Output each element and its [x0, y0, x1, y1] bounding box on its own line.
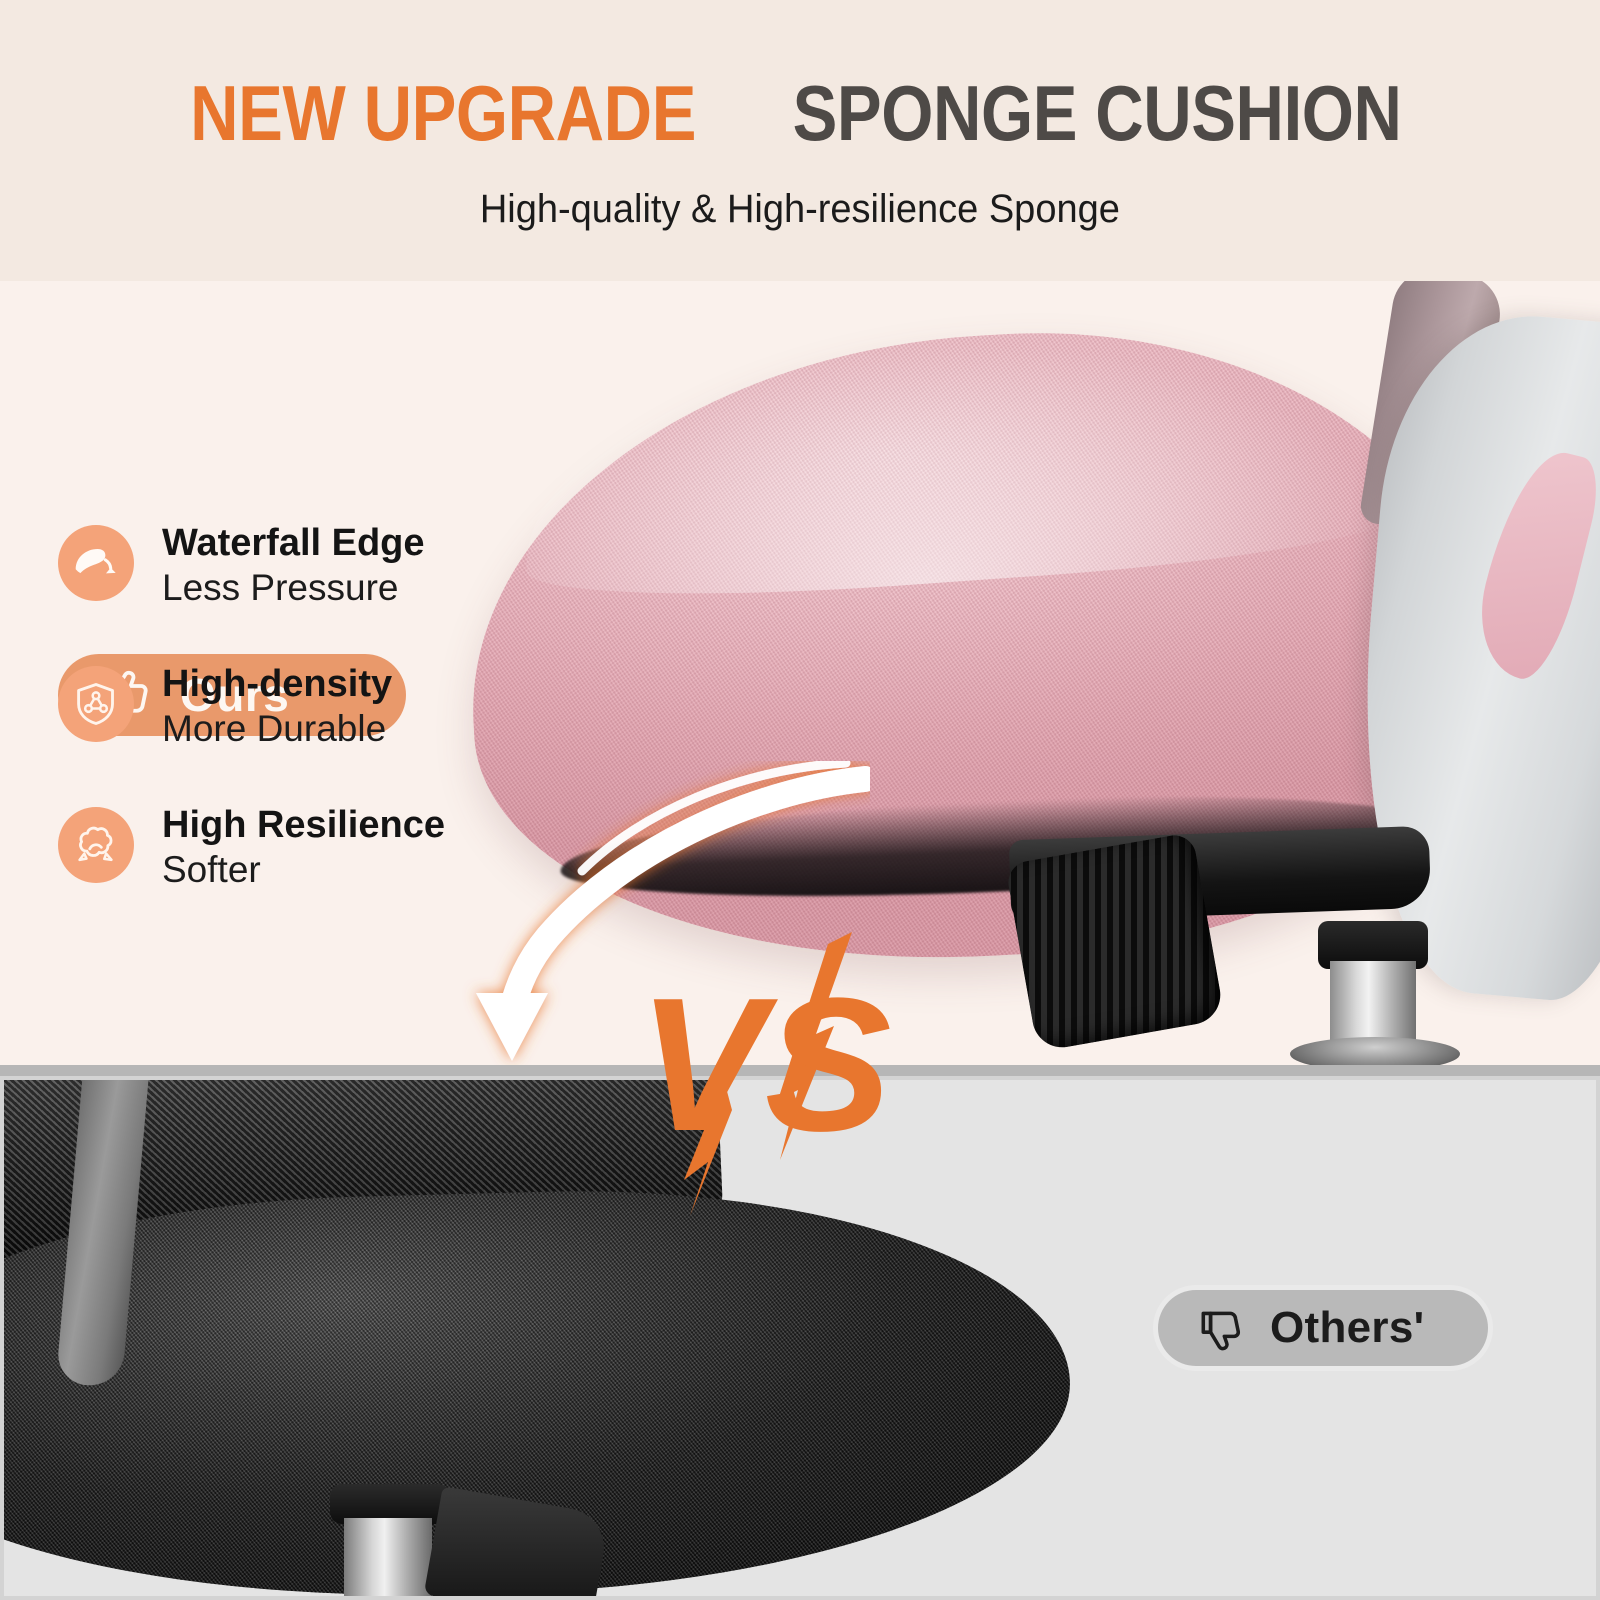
feature-subtitle: Less Pressure [162, 566, 425, 610]
feature-list: Waterfall Edge Less Pressure High-densit… [58, 521, 578, 945]
resilience-cloud-icon [58, 807, 134, 883]
feature-subtitle: Softer [162, 848, 445, 892]
feature-title: Waterfall Edge [162, 521, 425, 566]
feature-item: Waterfall Edge Less Pressure [58, 521, 578, 610]
title-highlight: NEW UPGRADE [190, 68, 696, 159]
others-badge[interactable]: Others' [1158, 1290, 1488, 1366]
page-subtitle: High-quality & High-resilience Sponge [480, 187, 1120, 232]
feature-item: High Resilience Softer [58, 803, 578, 892]
feature-text: High Resilience Softer [162, 803, 445, 892]
feature-item: High-density More Durable [58, 662, 578, 751]
vs-letter-v: VS [638, 959, 891, 1171]
waterfall-edge-icon [58, 525, 134, 601]
tension-knob [1005, 832, 1225, 1052]
others-badge-label: Others' [1270, 1303, 1424, 1353]
page-title: NEW UPGRADE SPONGE CUSHION [149, 68, 1451, 159]
thumbs-down-icon [1196, 1303, 1246, 1353]
feature-text: High-density More Durable [162, 662, 392, 751]
versus-mark: VS [620, 930, 920, 1230]
shield-density-icon [58, 666, 134, 742]
feature-title: High Resilience [162, 803, 445, 848]
title-rest: SPONGE CUSHION [793, 68, 1402, 159]
gas-cylinder-base [1290, 1037, 1460, 1065]
feature-title: High-density [162, 662, 392, 707]
header-band: NEW UPGRADE SPONGE CUSHION High-quality … [0, 0, 1600, 281]
infographic-page: NEW UPGRADE SPONGE CUSHION High-quality … [0, 0, 1600, 1600]
feature-text: Waterfall Edge Less Pressure [162, 521, 425, 610]
feature-subtitle: More Durable [162, 707, 392, 751]
